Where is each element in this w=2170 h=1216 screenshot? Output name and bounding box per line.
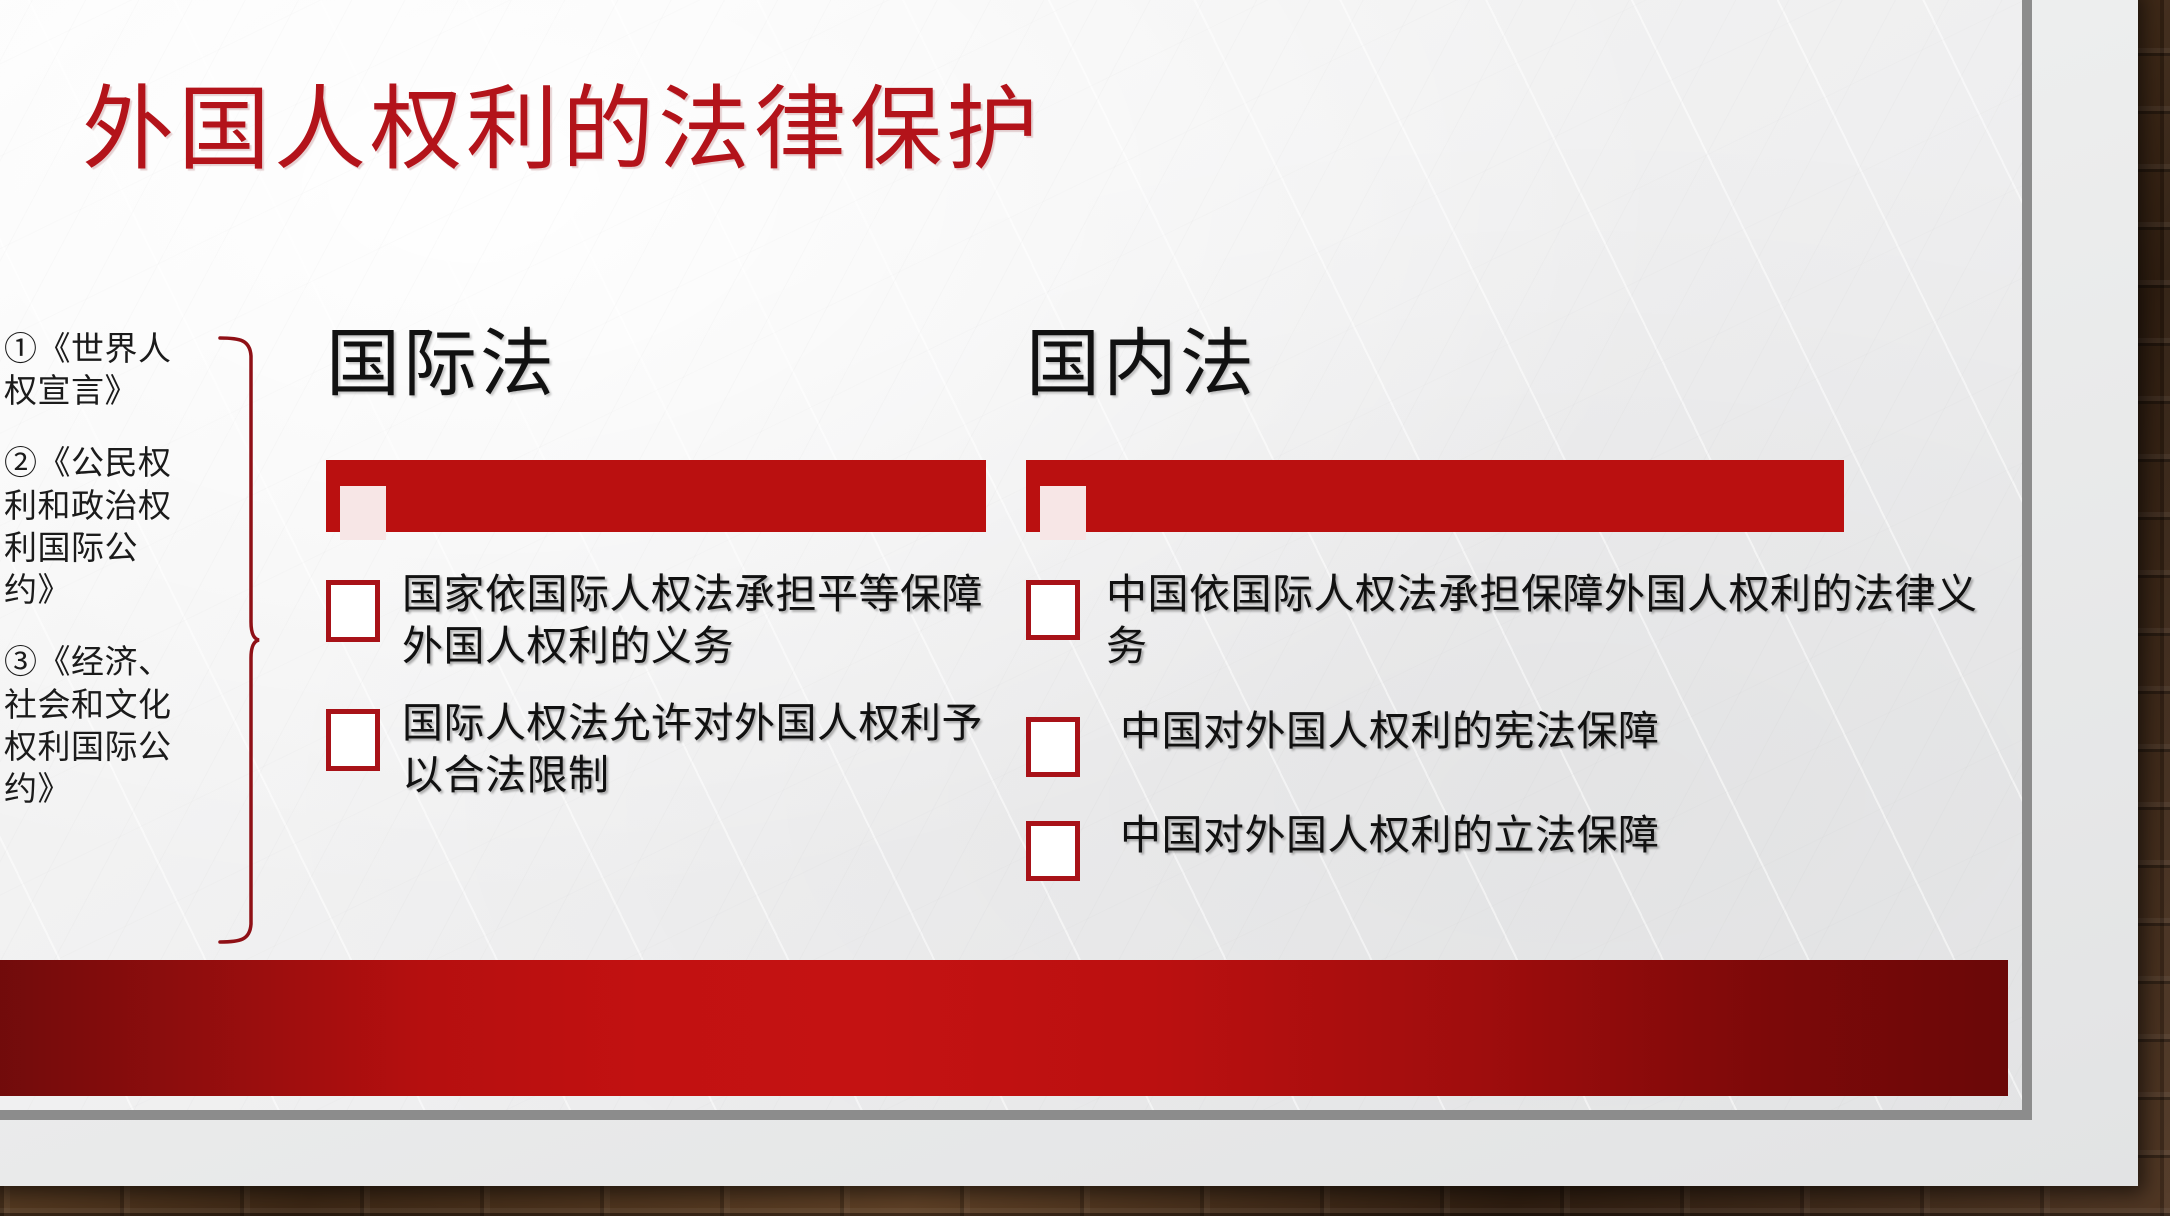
reference-item-1: ①《世界人权宣言》 bbox=[4, 328, 182, 412]
list-item[interactable]: 中国依国际人权法承担保障外国人权利的法律义务 bbox=[1026, 568, 1986, 673]
page-title: 外国人权利的法律保护 bbox=[82, 84, 1042, 176]
list-item-label: 中国对外国人权利的宪法保障 bbox=[1120, 705, 1660, 757]
column-accent-band-right bbox=[1026, 460, 1844, 532]
list-item-label: 中国依国际人权法承担保障外国人权利的法律义务 bbox=[1106, 568, 1986, 673]
column-international-law: 国际法 国家依国际人权法承担平等保障外国人权利的义务 国际人权法允许对外国人权利… bbox=[326, 326, 986, 826]
bullet-list-domestic: 中国依国际人权法承担保障外国人权利的法律义务 中国对外国人权利的宪法保障 中国对… bbox=[1026, 568, 1986, 881]
slide-root: 外国人权利的法律保护 ①《世界人权宣言》 ②《公民权利和政治权利国际公约》 ③《… bbox=[0, 0, 2170, 1216]
reference-item-3: ③《经济、社会和文化权利国际公约》 bbox=[4, 641, 182, 810]
checkbox-icon[interactable] bbox=[326, 709, 380, 771]
band-chip-icon bbox=[340, 486, 386, 540]
reference-list: ①《世界人权宣言》 ②《公民权利和政治权利国际公约》 ③《经济、社会和文化权利国… bbox=[4, 328, 182, 810]
list-item[interactable]: 中国对外国人权利的宪法保障 bbox=[1026, 705, 1986, 777]
reference-item-2: ②《公民权利和政治权利国际公约》 bbox=[4, 442, 182, 611]
checkbox-icon[interactable] bbox=[326, 580, 380, 642]
footer-accent-band bbox=[0, 960, 2008, 1096]
list-item-label: 国家依国际人权法承担平等保障外国人权利的义务 bbox=[402, 568, 986, 673]
list-item[interactable]: 中国对外国人权利的立法保障 bbox=[1026, 809, 1986, 881]
band-chip-icon bbox=[1040, 486, 1086, 540]
list-item-label: 国际人权法允许对外国人权利予以合法限制 bbox=[402, 697, 986, 802]
checkbox-icon[interactable] bbox=[1026, 717, 1080, 777]
list-item[interactable]: 国际人权法允许对外国人权利予以合法限制 bbox=[326, 697, 986, 802]
slide-canvas: 外国人权利的法律保护 ①《世界人权宣言》 ②《公民权利和政治权利国际公约》 ③《… bbox=[0, 0, 2022, 1110]
column-heading-domestic: 国内法 bbox=[1026, 326, 1986, 436]
bullet-list-international: 国家依国际人权法承担平等保障外国人权利的义务 国际人权法允许对外国人权利予以合法… bbox=[326, 568, 986, 802]
column-heading-international: 国际法 bbox=[326, 326, 986, 436]
list-item[interactable]: 国家依国际人权法承担平等保障外国人权利的义务 bbox=[326, 568, 986, 673]
column-domestic-law: 国内法 中国依国际人权法承担保障外国人权利的法律义务 中国对外国人权利的宪法保障… bbox=[1026, 326, 1986, 913]
column-accent-band-left bbox=[326, 460, 986, 532]
curly-brace-icon bbox=[218, 334, 260, 946]
checkbox-icon[interactable] bbox=[1026, 821, 1080, 881]
checkbox-icon[interactable] bbox=[1026, 580, 1080, 640]
list-item-label: 中国对外国人权利的立法保障 bbox=[1120, 809, 1660, 861]
